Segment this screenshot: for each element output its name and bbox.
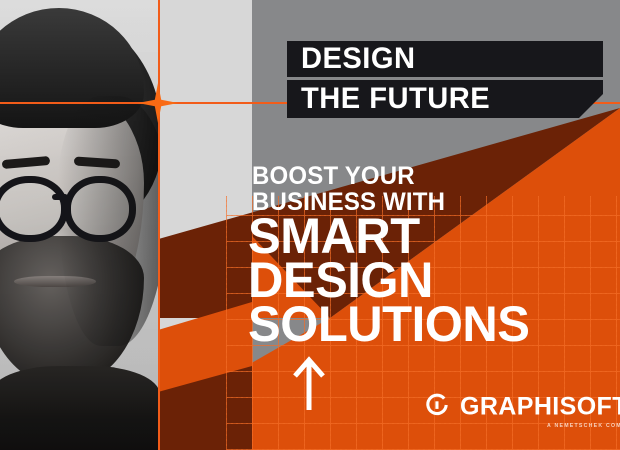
graphisoft-tagline: A NEMETSCHEK COMPANY [547, 414, 620, 439]
crosshair-vertical-line [158, 0, 160, 450]
banner-line1-text: DESIGN [301, 44, 415, 74]
graphisoft-logo: GRAPHISOFT® A NEMETSCHEK COMPANY [424, 390, 620, 419]
banner-bar-the-future: THE FUTURE [287, 80, 603, 118]
poster-canvas: DESIGN THE FUTURE BOOST YOUR BUSINESS WI… [0, 0, 620, 450]
banner-line2-text: THE FUTURE [301, 84, 490, 114]
banner-bar-design: DESIGN [287, 41, 603, 77]
arrow-up-icon [292, 356, 326, 412]
photo-grade-overlay [0, 0, 158, 450]
main-headline: SMART DESIGN SOLUTIONS [248, 214, 620, 346]
portrait-photo [0, 0, 158, 450]
subheadline-line1: BOOST YOUR [252, 163, 569, 189]
graphisoft-wordmark: GRAPHISOFT® A NEMETSCHEK COMPANY [460, 390, 620, 419]
headline-line3: SOLUTIONS [248, 302, 613, 346]
headline-banner: DESIGN THE FUTURE [287, 41, 603, 118]
banner-divider [287, 77, 603, 80]
graphisoft-c-mark-icon [424, 392, 450, 418]
